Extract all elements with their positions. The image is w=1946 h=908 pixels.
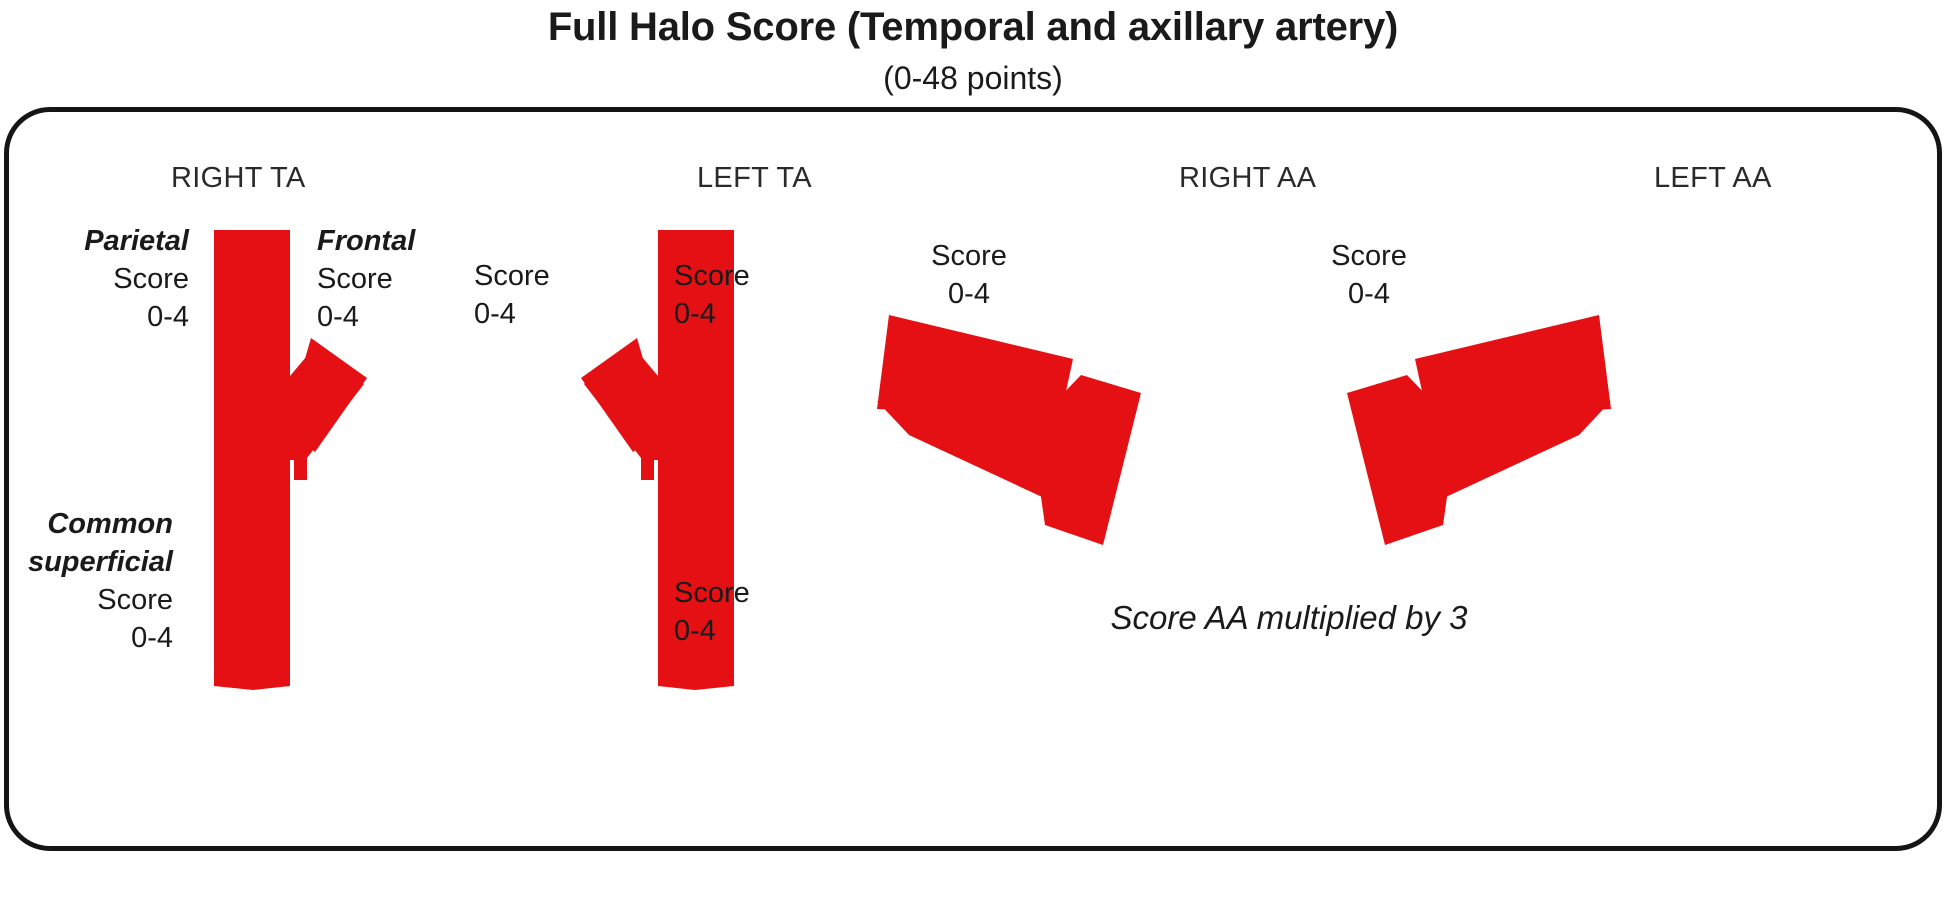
page-title: Full Halo Score (Temporal and axillary a… (0, 0, 1946, 52)
label-left-ta-common-superficial: Score 0-4 (674, 574, 824, 650)
label-left-aa-score: Score 0-4 (1289, 237, 1449, 313)
page-subtitle: (0-48 points) (0, 52, 1946, 100)
column-header-left-aa: LEFT AA (1654, 162, 1772, 195)
segment-name-frontal: Frontal (317, 222, 487, 260)
segment-name-common-line2: superficial (3, 543, 173, 581)
diagram-panel: RIGHT TA LEFT TA RIGHT AA LEFT AA (4, 107, 1942, 851)
right-axillary-artery-shape (849, 297, 1179, 587)
score-range: 0-4 (674, 295, 824, 333)
column-header-left-ta: LEFT TA (697, 162, 812, 195)
score-word: Score (674, 574, 824, 612)
label-right-ta-frontal: Frontal Score 0-4 (317, 222, 487, 336)
score-range: 0-4 (317, 298, 487, 336)
score-word: Score (474, 257, 624, 295)
score-word: Score (1289, 237, 1449, 275)
score-range: 0-4 (674, 612, 824, 650)
score-range: 0-4 (19, 298, 189, 336)
segment-name-parietal: Parietal (19, 222, 189, 260)
score-range: 0-4 (889, 275, 1049, 313)
score-word: Score (3, 581, 173, 619)
score-word: Score (889, 237, 1049, 275)
title-block: Full Halo Score (Temporal and axillary a… (0, 0, 1946, 100)
column-header-right-ta: RIGHT TA (171, 162, 306, 195)
segment-name-common-line1: Common (3, 505, 173, 543)
label-left-ta-frontal: Score 0-4 (474, 257, 624, 333)
score-range: 0-4 (474, 295, 624, 333)
label-right-aa-score: Score 0-4 (889, 237, 1049, 313)
score-word: Score (674, 257, 824, 295)
label-left-ta-parietal: Score 0-4 (674, 257, 824, 333)
score-range: 0-4 (3, 619, 173, 657)
label-right-ta-common-superficial: Common superficial Score 0-4 (3, 505, 173, 657)
aa-multiplier-note: Score AA multiplied by 3 (1009, 599, 1569, 637)
score-word: Score (317, 260, 487, 298)
column-header-right-aa: RIGHT AA (1179, 162, 1316, 195)
label-right-ta-parietal: Parietal Score 0-4 (19, 222, 189, 336)
score-range: 0-4 (1289, 275, 1449, 313)
left-axillary-artery-shape (1309, 297, 1639, 587)
score-word: Score (19, 260, 189, 298)
